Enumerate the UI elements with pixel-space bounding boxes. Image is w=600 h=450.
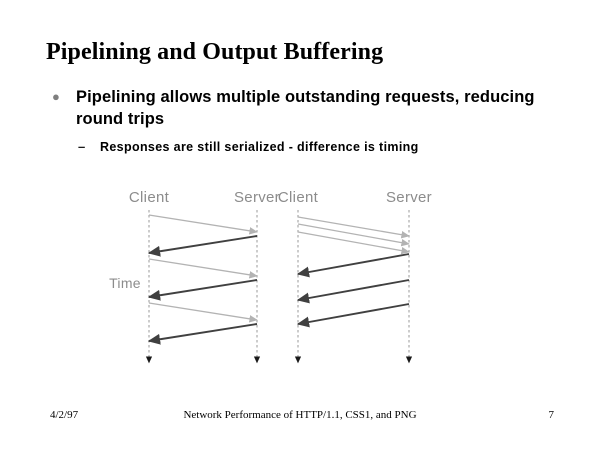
request-arrow-serial-5 [149, 303, 257, 320]
sub-bullet-list: – Responses are still serialized - diffe… [50, 138, 560, 156]
bullet-item-level1: ● Pipelining allows multiple outstanding… [50, 86, 560, 130]
response-arrow-pipelined-6 [298, 304, 409, 324]
footer-page-number: 7 [549, 409, 555, 421]
slide-footer: 4/2/97 Network Performance of HTTP/1.1, … [0, 409, 600, 429]
bullet-list: ● Pipelining allows multiple outstanding… [50, 86, 560, 156]
response-arrow-serial-6 [149, 324, 257, 341]
response-arrow-pipelined-4 [298, 254, 409, 274]
page-title: Pipelining and Output Buffering [46, 38, 383, 66]
bullet-marker-icon: ● [50, 86, 76, 108]
bullet-text-level2: Responses are still serialized - differe… [100, 138, 419, 156]
time-axis-label-group: Time [109, 275, 141, 291]
request-arrow-serial-1 [149, 215, 257, 232]
response-arrow-serial-2 [149, 236, 257, 253]
sequence-diagram: ClientServerClientServer Time [0, 176, 600, 381]
response-arrow-serial-4 [149, 280, 257, 297]
sequence-diagram-svg: ClientServerClientServer Time [0, 176, 600, 381]
dash-marker-icon: – [78, 138, 100, 156]
lane-label-4-server: Server [386, 189, 432, 206]
bullet-text-level1: Pipelining allows multiple outstanding r… [76, 86, 560, 130]
lifeline-group [149, 210, 409, 362]
request-arrow-pipelined-3 [298, 232, 409, 252]
lane-label-group: ClientServerClientServer [129, 189, 432, 206]
lane-label-2-server: Server [234, 189, 280, 206]
request-arrow-serial-3 [149, 259, 257, 276]
lane-label-1-client: Client [129, 189, 170, 206]
time-axis-label: Time [109, 275, 141, 291]
slide: Pipelining and Output Buffering ● Pipeli… [0, 0, 600, 450]
lane-label-3-client: Client [278, 189, 319, 206]
footer-title: Network Performance of HTTP/1.1, CSS1, a… [0, 409, 600, 421]
bullet-item-level2: – Responses are still serialized - diffe… [78, 138, 560, 156]
response-arrow-pipelined-5 [298, 280, 409, 300]
message-arrow-group [149, 215, 409, 341]
